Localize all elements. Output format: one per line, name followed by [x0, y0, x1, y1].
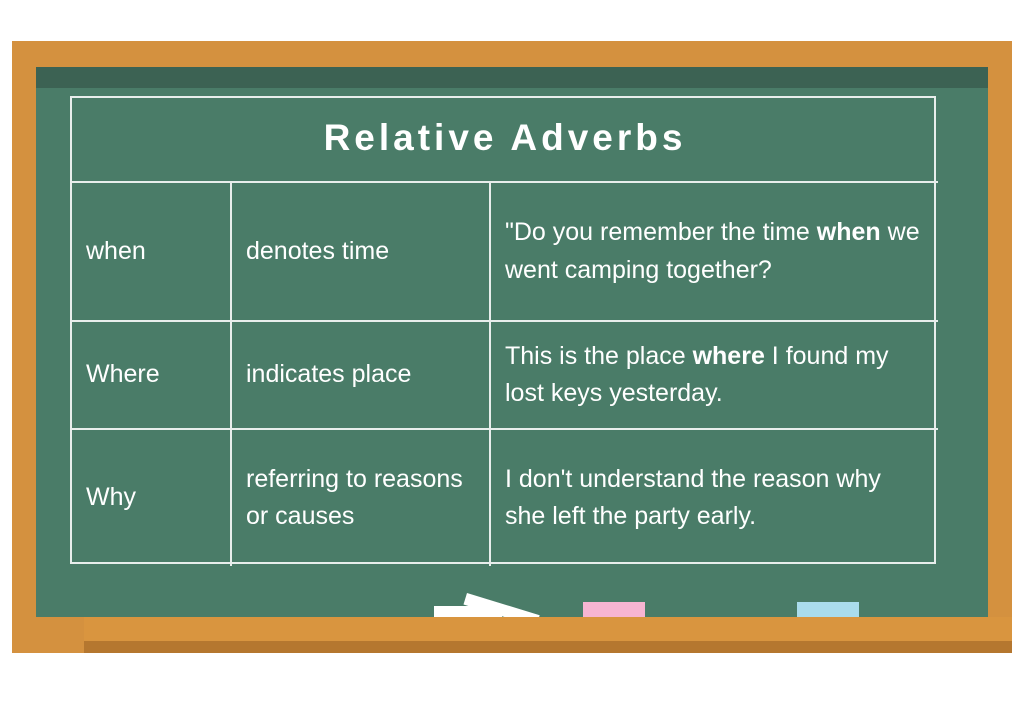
table-cell-example: "Do you remember the time when we went c… — [490, 182, 938, 321]
table-row: Where indicates place This is the place … — [72, 321, 938, 429]
table-cell-definition: referring to reasons or causes — [231, 429, 490, 566]
term-label: Why — [86, 483, 136, 511]
page-title: Relative Adverbs — [72, 98, 938, 182]
example-highlight-word: where — [693, 342, 765, 370]
table-cell-term: when — [72, 182, 231, 321]
example-sentence: "Do you remember the time when we went c… — [505, 218, 920, 284]
table-cell-example: I don't understand the reason why she le… — [490, 429, 938, 566]
board-top-shadow — [36, 67, 988, 88]
example-text-before: "Do you remember the time — [505, 218, 817, 246]
definition-label: referring to reasons or causes — [246, 465, 463, 531]
table-title-row: Relative Adverbs — [72, 98, 938, 182]
term-label: when — [86, 237, 146, 265]
table-row: when denotes time "Do you remember the t… — [72, 182, 938, 321]
table-cell-example: This is the place where I found my lost … — [490, 321, 938, 429]
chalk-tray-shadow — [12, 641, 1012, 653]
table-cell-definition: denotes time — [231, 182, 490, 321]
relative-adverbs-table: Relative Adverbs when denotes time "Do y… — [70, 96, 936, 564]
chalkboard-surface: Relative Adverbs when denotes time "Do y… — [36, 67, 988, 618]
term-label: Where — [86, 360, 160, 388]
table-cell-term: Where — [72, 321, 231, 429]
example-text-before: This is the place — [505, 342, 693, 370]
definition-label: denotes time — [246, 237, 389, 265]
example-text-before: I don't understand the reason why she le… — [505, 465, 881, 531]
chalk-tray-left-frame — [12, 617, 84, 653]
table-cell-definition: indicates place — [231, 321, 490, 429]
example-sentence: This is the place where I found my lost … — [505, 342, 889, 408]
table-row: Why referring to reasons or causes I don… — [72, 429, 938, 566]
example-highlight-word: when — [817, 218, 881, 246]
definition-label: indicates place — [246, 360, 411, 388]
example-sentence: I don't understand the reason why she le… — [505, 465, 881, 531]
table-cell-term: Why — [72, 429, 231, 566]
chalkboard-illustration: Relative Adverbs when denotes time "Do y… — [0, 0, 1024, 705]
